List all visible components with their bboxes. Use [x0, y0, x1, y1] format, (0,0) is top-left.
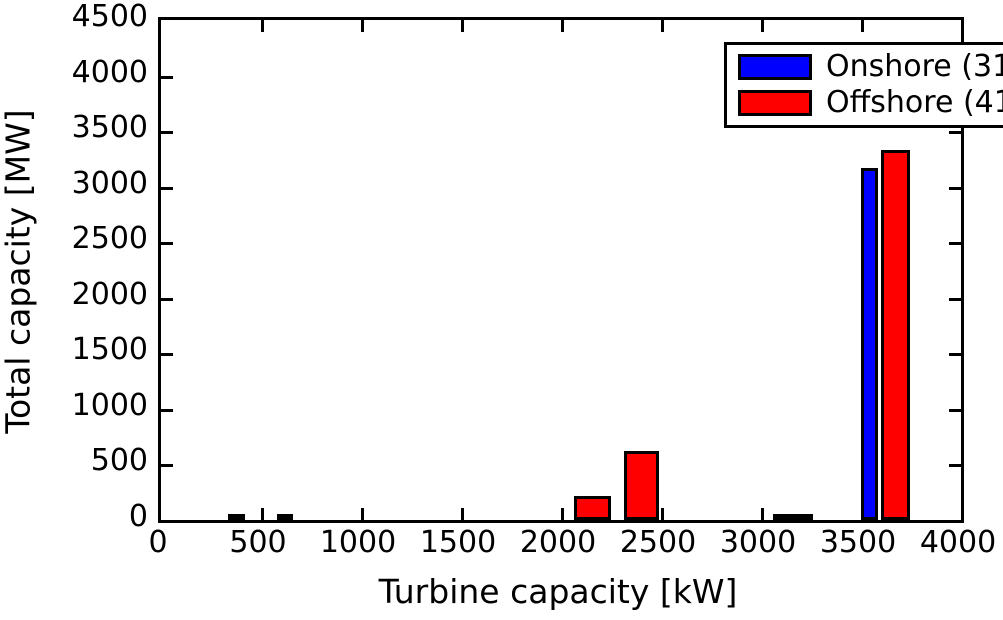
legend-label-offshore: Offshore (4191 MW)	[826, 88, 1003, 118]
y-tick-label: 1000	[72, 391, 148, 421]
x-tick-label: 4000	[920, 528, 996, 558]
x-tick-label: 0	[148, 528, 167, 558]
y-tick-label: 2500	[72, 224, 148, 254]
y-tick-label: 500	[91, 446, 148, 476]
bar-offshore	[624, 451, 659, 520]
y-tick-label: 3000	[72, 169, 148, 199]
bar-onshore	[861, 168, 878, 520]
legend-swatch-offshore	[738, 90, 812, 116]
legend-swatch-onshore	[738, 54, 812, 80]
chart-legend: Onshore (3168 MW) Offshore (4191 MW)	[724, 42, 1003, 128]
bar-offshore	[228, 514, 245, 520]
legend-item-offshore: Offshore (4191 MW)	[738, 88, 1003, 118]
x-tick-label: 3000	[720, 528, 796, 558]
x-tick-label: 2500	[620, 528, 696, 558]
y-tick-label: 3500	[72, 113, 148, 143]
x-tick-label: 3500	[820, 528, 896, 558]
x-tick-label: 1000	[320, 528, 396, 558]
plot-area: Onshore (3168 MW) Offshore (4191 MW)	[158, 17, 964, 523]
bar-offshore	[773, 514, 813, 520]
y-tick-label-group: 050010001500200025003000350040004500	[0, 0, 148, 534]
bar-offshore	[574, 496, 611, 520]
x-tick-label: 500	[229, 528, 286, 558]
x-tick-label: 2000	[520, 528, 596, 558]
legend-label-onshore: Onshore (3168 MW)	[826, 52, 1003, 82]
y-tick-label: 1500	[72, 335, 148, 365]
x-tick-label: 1500	[420, 528, 496, 558]
y-tick-label: 2000	[72, 280, 148, 310]
legend-item-onshore: Onshore (3168 MW)	[738, 52, 1003, 82]
bar-offshore	[277, 514, 293, 520]
y-tick-label: 4000	[72, 58, 148, 88]
x-tick-label-group: 05001000150020002500300035004000	[0, 528, 1003, 568]
y-tick-label: 4500	[72, 2, 148, 32]
bar-chart-figure: Total capacity [MW] 05001000150020002500…	[0, 0, 1003, 620]
bar-offshore	[881, 150, 910, 520]
x-axis-title: Turbine capacity [kW]	[158, 575, 958, 608]
